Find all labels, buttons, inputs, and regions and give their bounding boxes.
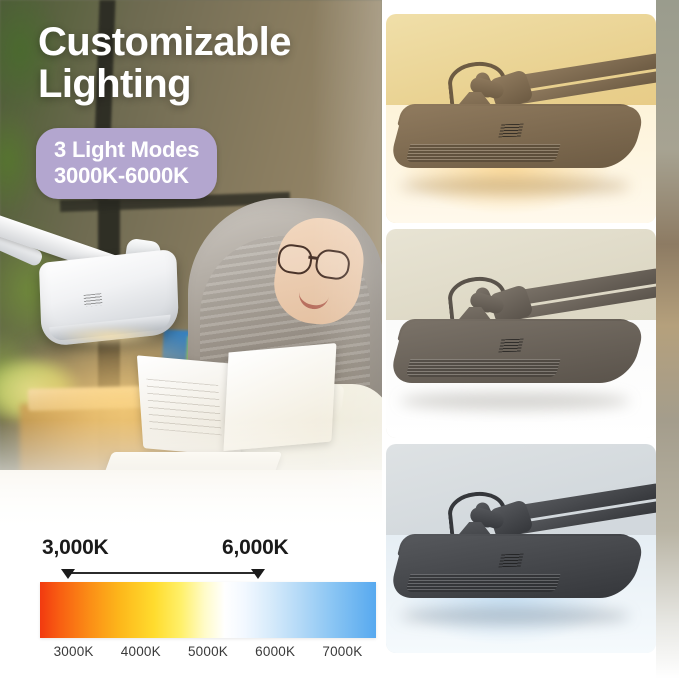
light-modes-badge: 3 Light Modes 3000K-6000K xyxy=(36,128,217,199)
badge-line-2: 3000K-6000K xyxy=(54,163,199,189)
headline-line-1: Customizable xyxy=(38,20,291,64)
light-mode-panels xyxy=(386,14,656,665)
lamp-brand-logo-icon xyxy=(498,124,523,138)
panel-lamp-shadow xyxy=(400,607,630,625)
tick-label-3000K: 3000K xyxy=(54,644,94,659)
page-title: Customizable Lighting xyxy=(38,22,358,105)
lamp-heatsink-fins xyxy=(406,144,561,162)
range-end-marker-icon xyxy=(251,569,265,579)
range-end-label: 6,000K xyxy=(222,536,289,560)
range-start-label: 3,000K xyxy=(42,536,109,560)
color-temperature-tick-labels: 3000K4000K5000K6000K7000K xyxy=(40,644,376,666)
lamp-brand-logo-icon xyxy=(498,339,523,353)
panel-lamp-shadow xyxy=(400,392,630,410)
lamp-brand-logo-icon xyxy=(83,293,102,307)
badge-line-1: 3 Light Modes xyxy=(54,137,199,163)
tick-label-4000K: 4000K xyxy=(121,644,161,659)
lamp-heatsink-fins xyxy=(406,359,561,377)
tick-label-5000K: 5000K xyxy=(188,644,228,659)
light-mode-panel-cool-white xyxy=(386,444,656,653)
color-temperature-gradient-bar xyxy=(40,582,376,638)
tick-label-7000K: 7000K xyxy=(322,644,362,659)
color-temperature-scale: 3,000K 6,000K 3000K4000K5000K6000K7000K xyxy=(0,528,382,679)
lamp-brand-logo-icon xyxy=(498,554,523,568)
panel-lamp-shadow xyxy=(400,177,630,195)
headline-line-2: Lighting xyxy=(38,64,358,106)
panel-lamp xyxy=(396,281,650,393)
range-start-marker-icon xyxy=(61,569,75,579)
light-mode-panel-warm-white xyxy=(386,14,656,223)
panel-lamp xyxy=(396,496,650,608)
tick-label-6000K: 6000K xyxy=(255,644,295,659)
range-connector-line xyxy=(68,572,258,574)
light-mode-panel-natural-white xyxy=(386,229,656,438)
lamp-heatsink-fins xyxy=(406,574,561,592)
product-feature-image: Customizable Lighting 3 Light Modes 3000… xyxy=(0,0,679,679)
background-ambient-strip xyxy=(656,0,679,679)
panel-lamp xyxy=(396,66,650,178)
